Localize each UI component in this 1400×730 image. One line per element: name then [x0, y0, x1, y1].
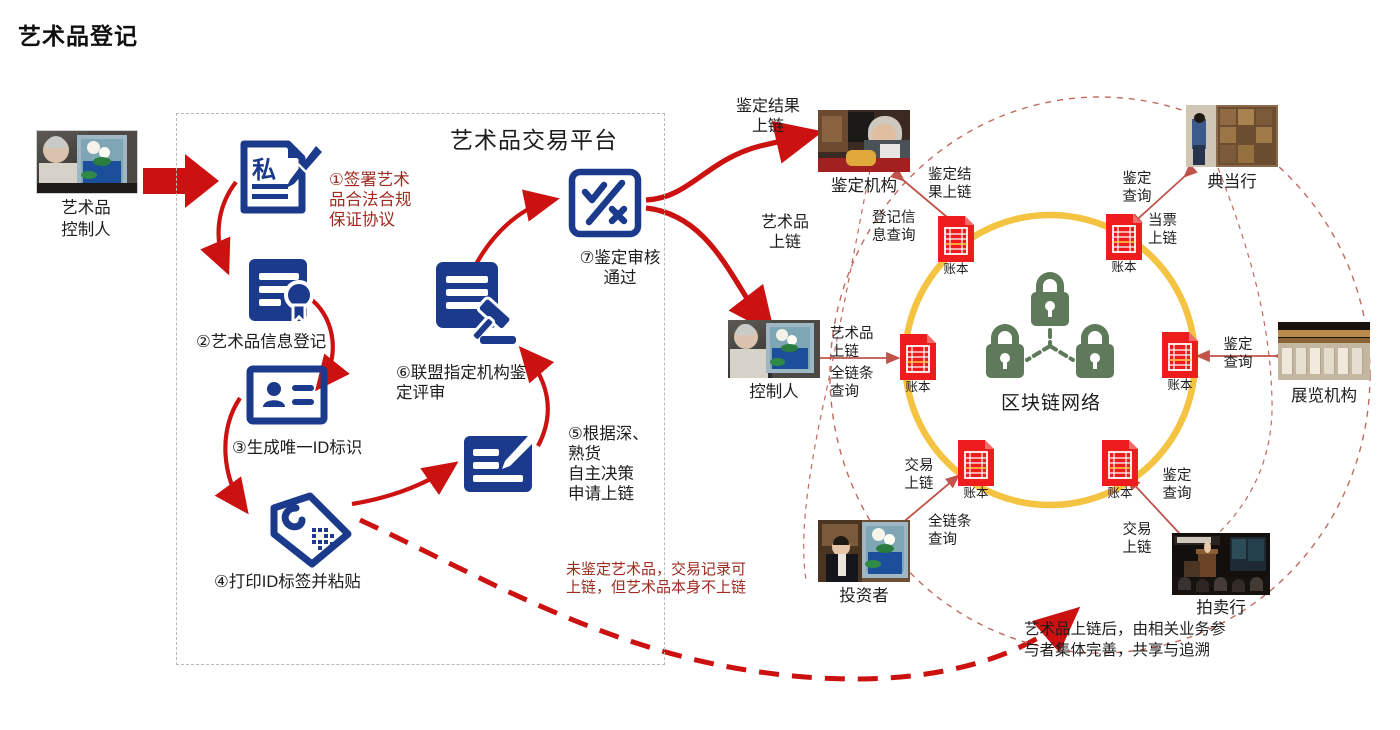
ledger-appraisal-label: 账本	[932, 262, 980, 277]
step-3-label: ③生成唯一ID标识	[232, 438, 362, 458]
participant-label-exhibition: 展览机构	[1272, 386, 1376, 406]
step-5-label: ⑤根据深、 熟货 自主决策 申请上链	[568, 424, 649, 505]
ledger-auction-label: 账本	[1096, 486, 1144, 501]
qr-tag-icon	[262, 490, 354, 575]
ledger-investor-icon	[958, 440, 994, 491]
ledger-pawn-label: 账本	[1100, 260, 1148, 275]
blockchain-network-name: 区块链网络	[996, 392, 1106, 415]
ledger-auction-icon	[1102, 440, 1138, 491]
controller-photo	[728, 320, 820, 378]
signed-document-icon: 私	[238, 140, 324, 223]
ledger-exhibition-label: 账本	[1156, 378, 1204, 393]
edge-pawn-ticket-onchain: 当票 上链	[1148, 212, 1198, 248]
ledger-appraisal-icon	[938, 216, 974, 267]
apply-form-icon	[460, 432, 538, 503]
participant-label-appraisal-agency: 鉴定机构	[818, 176, 910, 196]
appraiser-photo	[818, 110, 910, 172]
investor-photo	[818, 520, 910, 582]
ledger-controller-label: 账本	[894, 380, 942, 395]
id-card-icon	[246, 365, 328, 430]
edge-trade-onchain-investor: 交易 上链	[894, 457, 944, 493]
edge-fullchain-query-investor: 全链条 查询	[928, 513, 992, 549]
edge-appraisal-query-auction: 鉴定 查询	[1152, 467, 1202, 503]
source-label-line2: 控制人	[36, 220, 136, 240]
edge-artwork-onchain-controller: 艺术品 上链	[830, 325, 894, 361]
certificate-icon	[245, 255, 321, 332]
participant-label-auction-house: 拍卖行	[1172, 598, 1270, 618]
step-2-label: ②艺术品信息登记	[196, 332, 326, 352]
step-6-label: ⑥联盟指定机构鉴 定评审	[396, 363, 526, 403]
edge-trade-onchain-auction: 交易 上链	[1112, 521, 1162, 557]
platform-warning-note: 未鉴定艺术品，交易记录可 上链，但艺术品本身不上链	[566, 561, 746, 598]
page-title: 艺术品登记	[18, 22, 138, 50]
step-1-label: ①签署艺术 品合法合规 保证协议	[329, 170, 412, 230]
source-label-line1: 艺术品	[36, 198, 136, 218]
edge-appraisal-result-onchain: 鉴定结 果上链	[928, 166, 994, 202]
step-7-label: ⑦鉴定审核 通过	[565, 248, 675, 288]
participant-label-investor: 投资者	[818, 586, 910, 606]
edge-fullchain-query-controller: 全链条 查询	[830, 365, 894, 401]
gallery-photo	[1278, 322, 1370, 380]
pawnshop-photo	[1186, 105, 1278, 167]
ledger-investor-label: 账本	[952, 486, 1000, 501]
artwork-controller-photo	[36, 130, 138, 194]
participant-label-controller: 控制人	[728, 382, 820, 402]
three-locks-icon	[975, 262, 1125, 387]
svg-text:私: 私	[252, 157, 276, 184]
edge-appraisal-query-exhibition: 鉴定 查询	[1210, 336, 1266, 372]
participant-label-pawnshop: 典当行	[1186, 172, 1278, 192]
check-cross-icon	[568, 168, 644, 245]
edge-appraisal-result-onchain-main: 鉴定结果 上链	[720, 97, 816, 137]
ledger-pawn-icon	[1106, 214, 1142, 265]
edge-appraisal-query-pawn: 鉴定 查询	[1112, 170, 1162, 206]
platform-title: 艺术品交易平台	[450, 126, 618, 154]
network-footnote: 艺术品上链后，由相关业务参 与者集体完善，共享与追溯	[1024, 620, 1226, 662]
edge-registration-query: 登记信 息查询	[872, 209, 938, 245]
ledger-controller-icon	[900, 334, 936, 385]
ledger-exhibition-icon	[1162, 332, 1198, 383]
gavel-document-icon	[432, 258, 528, 353]
auction-photo	[1172, 533, 1270, 595]
edge-artwork-onchain-main: 艺术品 上链	[740, 213, 830, 253]
step-4-label: ④打印ID标签并粘贴	[214, 572, 361, 592]
